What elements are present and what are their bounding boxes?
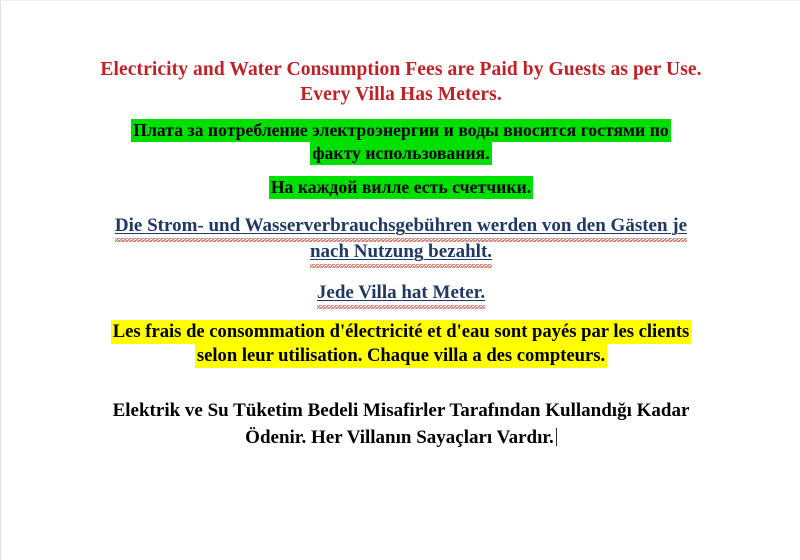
notice-line: nach Nutzung bezahlt. bbox=[63, 239, 739, 265]
notice-block-german-1[interactable]: Die Strom- und Wasserverbrauchsgebühren … bbox=[63, 213, 739, 265]
notice-line-text: Ödenir. Her Villanın Sayaçları Vardır. bbox=[245, 427, 554, 448]
notice-line: На каждой вилле есть счетчики. bbox=[63, 176, 739, 199]
underlined-text: Jede Villa hat Meter. bbox=[317, 282, 485, 303]
notice-line: Плата за потребление электроэнергии и во… bbox=[63, 119, 739, 142]
notice-block-russian-2[interactable]: На каждой вилле есть счетчики. bbox=[63, 176, 739, 199]
notice-block-french[interactable]: Les frais de consommation d'électricité … bbox=[63, 320, 739, 368]
highlighted-text: Les frais de consommation d'électricité … bbox=[111, 320, 692, 344]
notice-line: Les frais de consommation d'électricité … bbox=[63, 320, 739, 344]
notice-line: Die Strom- und Wasserverbrauchsgebühren … bbox=[63, 213, 739, 239]
notice-line: Jede Villa hat Meter. bbox=[63, 280, 739, 306]
highlighted-text: selon leur utilisation. Chaque villa a d… bbox=[195, 344, 607, 368]
notice-line: Electricity and Water Consumption Fees a… bbox=[63, 57, 739, 82]
highlighted-text: На каждой вилле есть счетчики. bbox=[269, 176, 533, 199]
notice-text-body[interactable]: Electricity and Water Consumption Fees a… bbox=[1, 1, 800, 452]
underlined-text: Die Strom- und Wasserverbrauchsgebühren … bbox=[115, 215, 687, 236]
highlighted-text: Плата за потребление электроэнергии и во… bbox=[131, 119, 670, 142]
notice-block-turkish[interactable]: Elektrik ve Su Tüketim Bedeli Misafirler… bbox=[63, 398, 739, 452]
notice-line: факту использования. bbox=[63, 142, 739, 165]
notice-line: Ödenir. Her Villanın Sayaçları Vardır. bbox=[63, 425, 739, 452]
text-cursor-caret bbox=[556, 428, 557, 446]
underlined-text: nach Nutzung bezahlt. bbox=[310, 241, 492, 262]
notice-line: Elektrik ve Su Tüketim Bedeli Misafirler… bbox=[63, 398, 739, 425]
notice-line: Every Villa Has Meters. bbox=[63, 82, 739, 107]
document-page: Electricity and Water Consumption Fees a… bbox=[0, 0, 800, 560]
notice-block-russian-1[interactable]: Плата за потребление электроэнергии и во… bbox=[63, 119, 739, 165]
notice-block-english[interactable]: Electricity and Water Consumption Fees a… bbox=[63, 57, 739, 108]
highlighted-text: факту использования. bbox=[310, 142, 491, 165]
notice-line: selon leur utilisation. Chaque villa a d… bbox=[63, 344, 739, 368]
notice-block-german-2[interactable]: Jede Villa hat Meter. bbox=[63, 280, 739, 306]
